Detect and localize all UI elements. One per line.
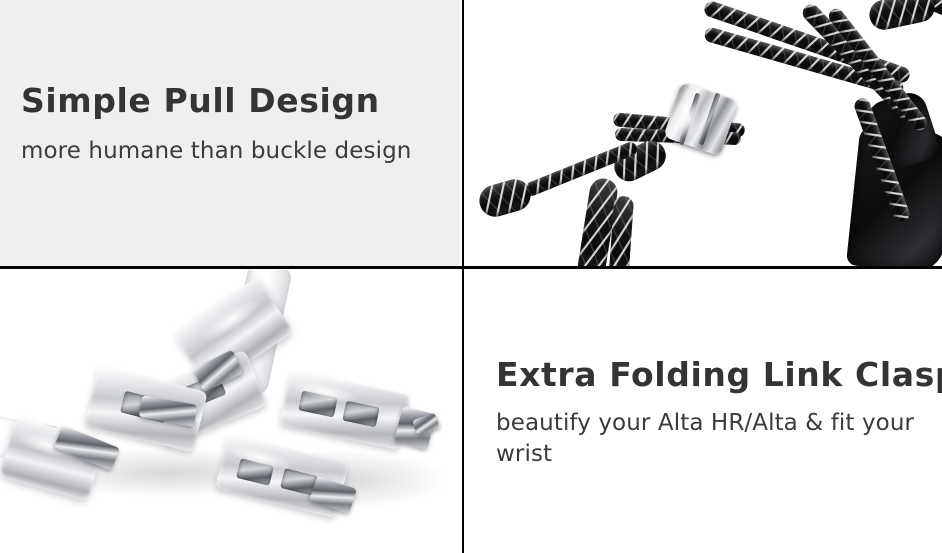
- simple-pull-design-text-panel: Simple Pull Design more humane than buck…: [0, 0, 460, 266]
- product-feature-collage: Simple Pull Design more humane than buck…: [0, 0, 942, 553]
- silver-ring-slider: [663, 82, 739, 156]
- folding-clasp-photo-panel: [0, 270, 460, 553]
- vertical-divider: [462, 0, 464, 553]
- braided-cord-end-knot: [476, 175, 535, 220]
- paracord-slider-photo-panel: [465, 0, 942, 266]
- folding-clasp-photo: [0, 270, 460, 553]
- slider-highlight: [677, 96, 699, 140]
- braided-cord-knot-top: [867, 0, 938, 33]
- horizontal-divider: [0, 266, 942, 269]
- extra-folding-link-clasps-text-panel: Extra Folding Link Clasps beautify your …: [465, 270, 942, 553]
- paracord-photo: [465, 0, 942, 266]
- bottom-right-headline: Extra Folding Link Clasps: [496, 358, 942, 391]
- top-left-subline: more humane than buckle design: [21, 136, 460, 167]
- bottom-right-subline: beautify your Alta HR/Alta & fit your wr…: [496, 408, 916, 470]
- top-left-headline: Simple Pull Design: [21, 84, 380, 117]
